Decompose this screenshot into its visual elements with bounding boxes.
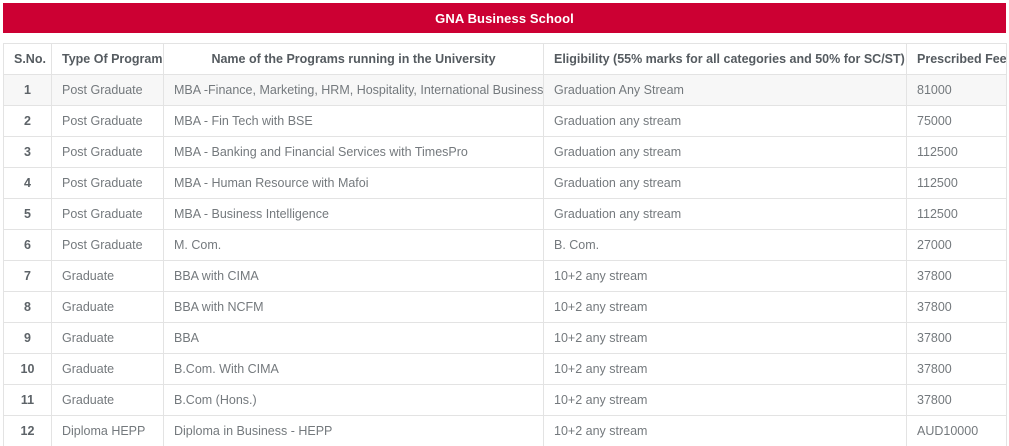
page-root: GNA Business School S.No. Type Of Progra… [0, 0, 1009, 446]
cell-program-name: M. Com. [164, 230, 544, 261]
cell-eligibility: 10+2 any stream [544, 261, 907, 292]
cell-sno: 8 [4, 292, 52, 323]
cell-fee: 112500 [907, 168, 1007, 199]
cell-eligibility: 10+2 any stream [544, 292, 907, 323]
column-header-sno: S.No. [4, 44, 52, 75]
programs-table: S.No. Type Of Program Name of the Progra… [3, 43, 1007, 446]
table-row: 7GraduateBBA with CIMA10+2 any stream378… [4, 261, 1007, 292]
table-row: 12Diploma HEPPDiploma in Business - HEPP… [4, 416, 1007, 446]
cell-sno: 11 [4, 385, 52, 416]
table-row: 11GraduateB.Com (Hons.)10+2 any stream37… [4, 385, 1007, 416]
page-title: GNA Business School [435, 12, 574, 25]
cell-program-name: MBA -Finance, Marketing, HRM, Hospitalit… [164, 75, 544, 106]
cell-fee: 112500 [907, 199, 1007, 230]
programs-table-container: S.No. Type Of Program Name of the Progra… [3, 43, 1006, 446]
cell-eligibility: Graduation Any Stream [544, 75, 907, 106]
table-row: 4Post GraduateMBA - Human Resource with … [4, 168, 1007, 199]
table-row: 6Post GraduateM. Com.B. Com.27000 [4, 230, 1007, 261]
cell-sno: 9 [4, 323, 52, 354]
column-header-name: Name of the Programs running in the Univ… [164, 44, 544, 75]
table-row: 10GraduateB.Com. With CIMA10+2 any strea… [4, 354, 1007, 385]
cell-fee: 27000 [907, 230, 1007, 261]
cell-fee: 81000 [907, 75, 1007, 106]
cell-eligibility: 10+2 any stream [544, 354, 907, 385]
cell-program-name: BBA with CIMA [164, 261, 544, 292]
cell-eligibility: 10+2 any stream [544, 323, 907, 354]
cell-program-name: Diploma in Business - HEPP [164, 416, 544, 446]
cell-type: Graduate [52, 261, 164, 292]
cell-type: Graduate [52, 292, 164, 323]
table-row: 2Post GraduateMBA - Fin Tech with BSEGra… [4, 106, 1007, 137]
table-row: 1Post GraduateMBA -Finance, Marketing, H… [4, 75, 1007, 106]
cell-type: Graduate [52, 385, 164, 416]
cell-eligibility: B. Com. [544, 230, 907, 261]
cell-type: Graduate [52, 354, 164, 385]
table-header: S.No. Type Of Program Name of the Progra… [4, 44, 1007, 75]
cell-sno: 7 [4, 261, 52, 292]
cell-eligibility: Graduation any stream [544, 106, 907, 137]
cell-type: Post Graduate [52, 168, 164, 199]
cell-sno: 5 [4, 199, 52, 230]
cell-program-name: MBA - Fin Tech with BSE [164, 106, 544, 137]
table-header-row: S.No. Type Of Program Name of the Progra… [4, 44, 1007, 75]
cell-type: Post Graduate [52, 75, 164, 106]
cell-program-name: B.Com. With CIMA [164, 354, 544, 385]
cell-eligibility: Graduation any stream [544, 168, 907, 199]
table-row: 5Post GraduateMBA - Business Intelligenc… [4, 199, 1007, 230]
cell-eligibility: Graduation any stream [544, 137, 907, 168]
cell-sno: 6 [4, 230, 52, 261]
column-header-fee: Prescribed Fee [907, 44, 1007, 75]
cell-eligibility: Graduation any stream [544, 199, 907, 230]
cell-fee: 37800 [907, 261, 1007, 292]
cell-fee: 37800 [907, 385, 1007, 416]
cell-type: Post Graduate [52, 199, 164, 230]
cell-program-name: B.Com (Hons.) [164, 385, 544, 416]
cell-type: Graduate [52, 323, 164, 354]
cell-sno: 2 [4, 106, 52, 137]
cell-fee: 37800 [907, 354, 1007, 385]
cell-sno: 1 [4, 75, 52, 106]
cell-type: Post Graduate [52, 106, 164, 137]
table-row: 3Post GraduateMBA - Banking and Financia… [4, 137, 1007, 168]
cell-fee: 37800 [907, 323, 1007, 354]
cell-sno: 4 [4, 168, 52, 199]
cell-sno: 10 [4, 354, 52, 385]
cell-program-name: BBA with NCFM [164, 292, 544, 323]
cell-eligibility: 10+2 any stream [544, 385, 907, 416]
school-title-banner: GNA Business School [3, 3, 1006, 33]
cell-program-name: BBA [164, 323, 544, 354]
cell-fee: 37800 [907, 292, 1007, 323]
table-row: 9GraduateBBA10+2 any stream37800 [4, 323, 1007, 354]
cell-type: Diploma HEPP [52, 416, 164, 446]
cell-fee: 112500 [907, 137, 1007, 168]
cell-fee: 75000 [907, 106, 1007, 137]
cell-sno: 3 [4, 137, 52, 168]
column-header-type: Type Of Program [52, 44, 164, 75]
cell-fee: AUD10000 [907, 416, 1007, 446]
cell-eligibility: 10+2 any stream [544, 416, 907, 446]
table-row: 8GraduateBBA with NCFM10+2 any stream378… [4, 292, 1007, 323]
cell-type: Post Graduate [52, 137, 164, 168]
column-header-eligibility: Eligibility (55% marks for all categorie… [544, 44, 907, 75]
cell-program-name: MBA - Human Resource with Mafoi [164, 168, 544, 199]
cell-sno: 12 [4, 416, 52, 446]
cell-program-name: MBA - Banking and Financial Services wit… [164, 137, 544, 168]
cell-type: Post Graduate [52, 230, 164, 261]
cell-program-name: MBA - Business Intelligence [164, 199, 544, 230]
table-body: 1Post GraduateMBA -Finance, Marketing, H… [4, 75, 1007, 446]
